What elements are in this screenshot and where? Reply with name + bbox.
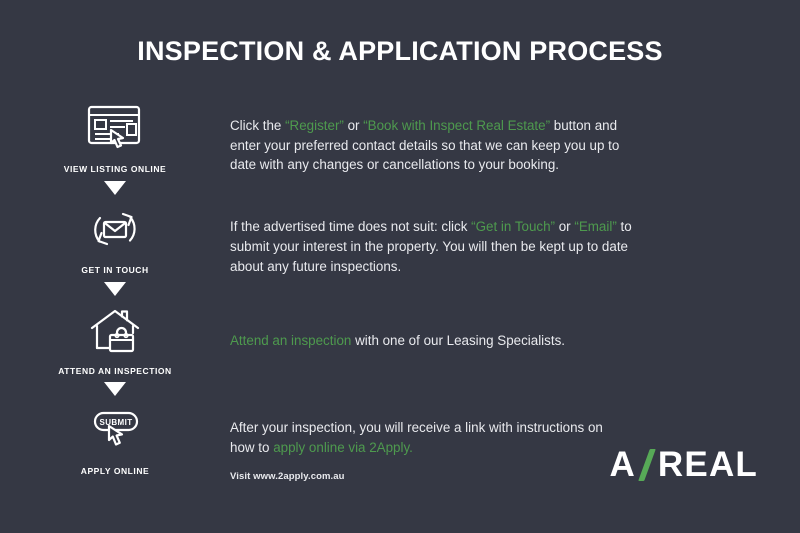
infographic-page: INSPECTION & APPLICATION PROCESS [0,0,800,533]
brand-logo: A REAL [609,445,758,485]
step-2-copy: If the advertised time does not suit: cl… [230,217,640,276]
page-title: INSPECTION & APPLICATION PROCESS [0,36,800,67]
step-2-copy-part-1: If the advertised time does not suit: cl… [230,219,471,234]
step-1-body: Click the “Register” or “Book with Inspe… [230,100,800,175]
step-attend-an-inspection: ATTEND AN INSPECTION Attend an inspectio… [0,302,800,376]
submit-button-cursor-icon: SUBMIT [79,402,151,460]
step-1-icon-column: VIEW LISTING ONLINE [0,100,230,174]
step-3-icon-column: ATTEND AN INSPECTION [0,302,230,376]
step-2-label: GET IN TOUCH [81,265,148,275]
logo-slash-icon [637,448,657,482]
step-2-copy-highlight-getintouch: “Get in Touch” [471,219,555,234]
listing-window-cursor-icon [79,100,151,158]
step-2-icon-column: GET IN TOUCH [0,201,230,275]
step-3-label: ATTEND AN INSPECTION [58,366,171,376]
step-get-in-touch: GET IN TOUCH If the advertised time does… [0,201,800,276]
step-4-footnote: Visit www.2apply.com.au [230,471,625,482]
step-2-copy-part-2: or [555,219,574,234]
step-1-copy: Click the “Register” or “Book with Inspe… [230,116,640,175]
step-1-copy-highlight-register: “Register” [285,118,344,133]
step-4-icon-column: SUBMIT APPLY ONLINE [0,402,230,476]
step-3-copy-part-1: with one of our Leasing Specialists. [351,333,565,348]
step-1-copy-part-2: or [344,118,363,133]
arrow-down-icon [104,382,126,396]
step-3-copy-highlight-attend: Attend an inspection [230,333,351,348]
steps-list: VIEW LISTING ONLINE Click the “Register”… [0,100,800,482]
logo-word-real: REAL [658,445,758,485]
step-4-copy: After your inspection, you will receive … [230,418,625,457]
arrow-down-icon [104,282,126,296]
house-briefcase-icon [79,302,151,360]
step-1-label: VIEW LISTING ONLINE [64,164,167,174]
step-1-copy-part-1: Click the [230,118,285,133]
step-3-copy: Attend an inspection with one of our Lea… [230,331,640,351]
step-view-listing-online: VIEW LISTING ONLINE Click the “Register”… [0,100,800,175]
step-2-copy-highlight-email: “Email” [574,219,616,234]
step-4-copy-highlight-apply: apply online via 2Apply. [273,440,413,455]
svg-text:SUBMIT: SUBMIT [99,418,132,427]
arrow-down-2 [0,276,230,302]
step-4-label: APPLY ONLINE [81,466,149,476]
logo-letter-a: A [609,445,635,485]
step-3-body: Attend an inspection with one of our Lea… [230,302,800,351]
arrow-down-3 [0,376,230,402]
step-1-copy-highlight-book: “Book with Inspect Real Estate” [363,118,550,133]
step-2-body: If the advertised time does not suit: cl… [230,201,800,276]
arrow-down-1 [0,175,230,201]
arrow-down-icon [104,181,126,195]
envelope-refresh-icon [79,201,151,259]
